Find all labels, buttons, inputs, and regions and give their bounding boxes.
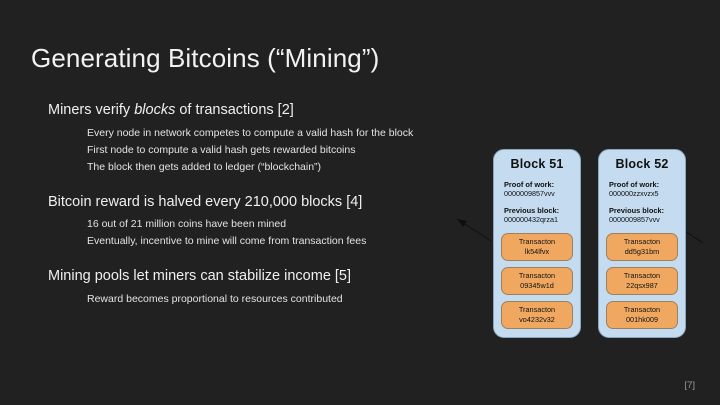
bullet-level1-text-pre: Miners verify <box>48 102 134 118</box>
bullet-level1-emphasis: blocks <box>134 102 175 118</box>
block-title: Block 51 <box>499 157 575 171</box>
previous-block-value: 000000432qrza1 <box>504 215 575 224</box>
bullet-group: Miners verify blocks of transactions [2]… <box>48 101 478 176</box>
blockchain-diagram: Block 51 Proof of work: 0000009857vvv Pr… <box>455 145 705 380</box>
bullet-level1: Bitcoin reward is halved every 210,000 b… <box>48 193 478 213</box>
transaction-box[interactable]: Transacton 09345w1d <box>501 267 573 295</box>
transaction-box[interactable]: Transacton dd5g31bm <box>606 233 678 261</box>
bullet-level1: Mining pools let miners can stabilize in… <box>48 267 478 287</box>
transaction-list: Transacton dd5g31bm Transacton 22qsx987 … <box>604 233 680 329</box>
previous-block-value: 0000009857vvv <box>609 215 680 224</box>
bullet-level2: 16 out of 21 million coins have been min… <box>87 216 478 233</box>
bullet-level1: Miners verify blocks of transactions [2] <box>48 101 478 121</box>
transaction-value: 22qsx987 <box>607 281 677 290</box>
proof-of-work-value: 000000zzxvzx5 <box>609 189 680 198</box>
transaction-label: Transacton <box>502 237 572 246</box>
transaction-label: Transacton <box>502 305 572 314</box>
block-card-51[interactable]: Block 51 Proof of work: 0000009857vvv Pr… <box>493 149 581 338</box>
slide-body: Miners verify blocks of transactions [2]… <box>48 101 478 308</box>
proof-of-work-field: Proof of work: 0000009857vvv <box>504 180 575 199</box>
transaction-label: Transacton <box>607 237 677 246</box>
proof-of-work-value: 0000009857vvv <box>504 189 575 198</box>
transaction-box[interactable]: Transacton 22qsx987 <box>606 267 678 295</box>
bullet-level2: First node to compute a valid hash gets … <box>87 142 478 159</box>
previous-block-label: Previous block: <box>609 206 680 215</box>
transaction-box[interactable]: Transacton 001hk009 <box>606 301 678 329</box>
bullet-group: Bitcoin reward is halved every 210,000 b… <box>48 193 478 251</box>
chain-arrow-incoming <box>457 219 491 241</box>
transaction-value: 001hk009 <box>607 315 677 324</box>
transaction-label: Transacton <box>607 305 677 314</box>
transaction-box[interactable]: Transacton lk54lfvx <box>501 233 573 261</box>
transaction-value: dd5g31bm <box>607 247 677 256</box>
block-title: Block 52 <box>604 157 680 171</box>
page-title: Generating Bitcoins (“Mining”) <box>31 43 379 74</box>
previous-block-label: Previous block: <box>504 206 575 215</box>
proof-of-work-field: Proof of work: 000000zzxvzx5 <box>609 180 680 199</box>
transaction-value: 09345w1d <box>502 281 572 290</box>
previous-block-field: Previous block: 000000432qrza1 <box>504 206 575 225</box>
slide-reference-number: [7] <box>684 380 695 391</box>
bullet-level2: Eventually, incentive to mine will come … <box>87 233 478 250</box>
slide-canvas: Generating Bitcoins (“Mining”) Miners ve… <box>0 0 720 405</box>
proof-of-work-label: Proof of work: <box>504 180 575 189</box>
bullet-level2: Every node in network competes to comput… <box>87 125 478 142</box>
bullet-level1-text-post: of transactions [2] <box>175 102 293 118</box>
transaction-value: vo4232v32 <box>502 315 572 324</box>
transaction-value: lk54lfvx <box>502 247 572 256</box>
block-card-52[interactable]: Block 52 Proof of work: 000000zzxvzx5 Pr… <box>598 149 686 338</box>
transaction-label: Transacton <box>502 271 572 280</box>
bullet-group: Mining pools let miners can stabilize in… <box>48 267 478 308</box>
proof-of-work-label: Proof of work: <box>609 180 680 189</box>
previous-block-field: Previous block: 0000009857vvv <box>609 206 680 225</box>
transaction-box[interactable]: Transacton vo4232v32 <box>501 301 573 329</box>
bullet-level2: The block then gets added to ledger (“bl… <box>87 159 478 176</box>
transaction-list: Transacton lk54lfvx Transacton 09345w1d … <box>499 233 575 329</box>
bullet-level2: Reward becomes proportional to resources… <box>87 291 478 308</box>
transaction-label: Transacton <box>607 271 677 280</box>
page-title-text: Generating Bitcoins (“Mining”) <box>31 43 379 73</box>
